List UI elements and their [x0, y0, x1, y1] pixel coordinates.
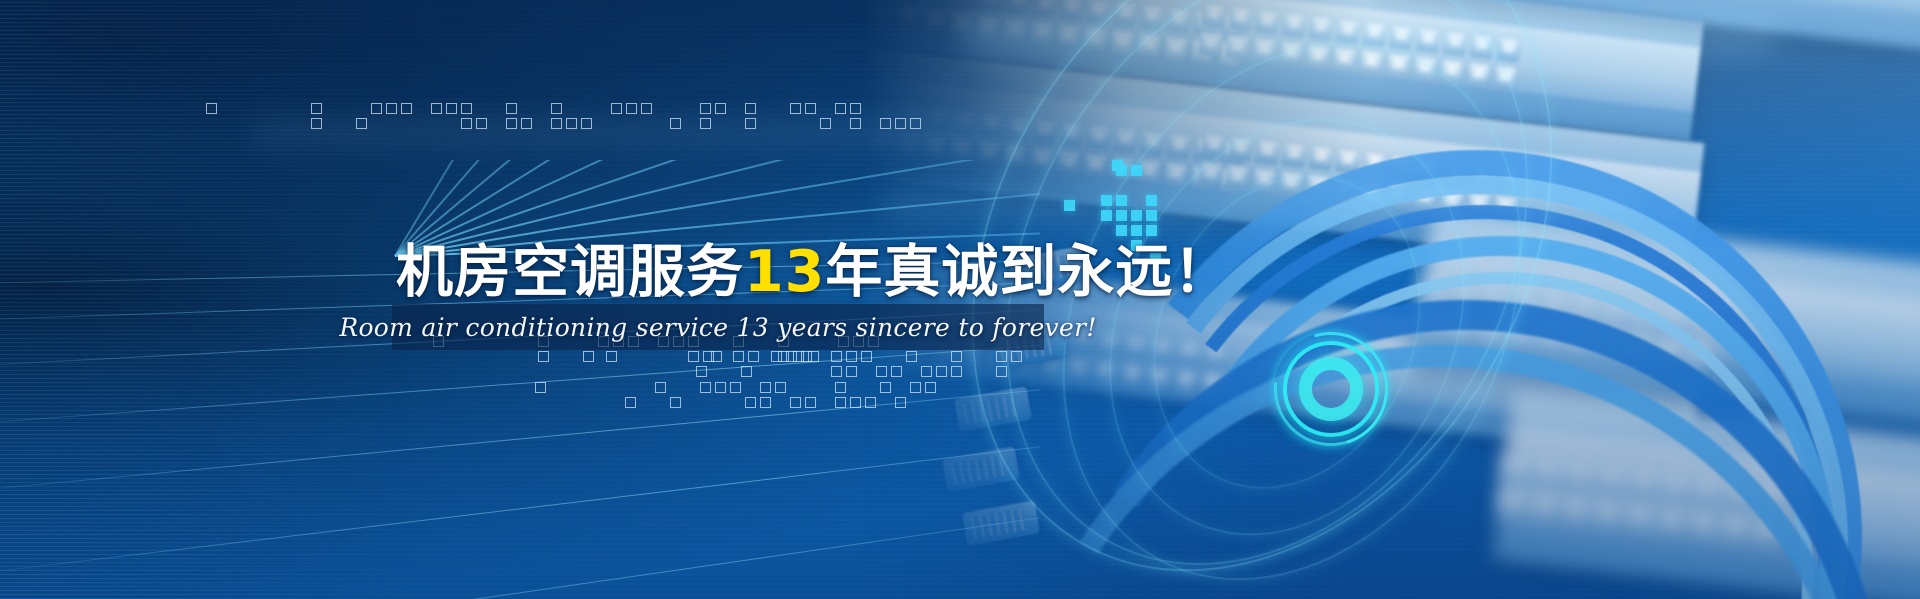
headline-part-before: 机房空调服务	[396, 239, 744, 305]
pixel-square-accent	[1131, 210, 1142, 221]
banner-hero: 机房空调服务13年真诚到永远！ Room air conditioning se…	[0, 0, 1920, 599]
page-title: 机房空调服务13年真诚到永远！	[396, 244, 1231, 301]
pixel-square-accent	[1112, 160, 1123, 171]
pixel-square-accent	[1116, 210, 1127, 221]
pixel-square-accent	[1116, 195, 1127, 206]
pixel-square-accent	[1146, 195, 1157, 206]
pixel-square-accent	[1146, 225, 1157, 236]
pixel-square-accent	[1064, 200, 1075, 211]
pixel-square-accent	[1131, 225, 1142, 236]
subtitle-text: Room air conditioning service 13 years s…	[392, 304, 1044, 350]
pixel-square-accent	[1101, 210, 1112, 221]
pixel-square-accent	[1101, 195, 1112, 206]
pixel-square-accent	[1131, 165, 1142, 176]
headline-part-after: 年真诚到永远！	[825, 239, 1231, 305]
headline-highlight-years: 13	[744, 239, 825, 305]
pixel-square-accent	[1116, 225, 1127, 236]
pixel-square-accent	[1146, 210, 1157, 221]
